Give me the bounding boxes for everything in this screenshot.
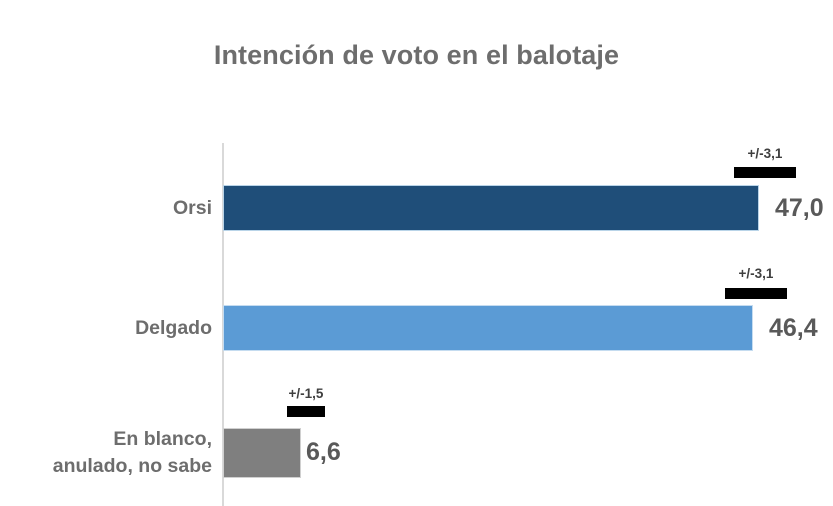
value-label-blanco: 6,6 xyxy=(306,438,341,467)
error-bar-cap-blanco xyxy=(287,406,325,417)
error-bar-label-blanco: +/-1,5 xyxy=(256,386,356,401)
bar-blanco[interactable] xyxy=(223,428,301,478)
bar-delgado[interactable] xyxy=(223,305,753,351)
category-label-orsi: Orsi xyxy=(173,196,212,220)
error-bar-cap-orsi xyxy=(734,167,796,178)
value-label-orsi: 47,0 xyxy=(775,194,824,223)
category-label-blanco-line2: anulado, no sabe xyxy=(53,453,212,480)
plot-area: Orsi 47,0 +/-3,1 Delgado 46,4 +/-3,1 En … xyxy=(0,0,833,506)
category-label-delgado: Delgado xyxy=(135,316,212,340)
category-label-delgado-line1: Delgado xyxy=(135,317,212,339)
bar-chart: Intención de voto en el balotaje Orsi 47… xyxy=(0,0,833,506)
error-bar-cap-delgado xyxy=(725,288,787,299)
bar-orsi[interactable] xyxy=(223,185,759,231)
error-bar-label-orsi: +/-3,1 xyxy=(715,146,815,161)
category-label-blanco: En blanco, anulado, no sabe xyxy=(53,426,212,480)
category-label-blanco-line1: En blanco, xyxy=(53,426,212,453)
value-label-delgado: 46,4 xyxy=(769,314,818,343)
category-label-orsi-line1: Orsi xyxy=(173,197,212,219)
error-bar-label-delgado: +/-3,1 xyxy=(706,266,806,281)
